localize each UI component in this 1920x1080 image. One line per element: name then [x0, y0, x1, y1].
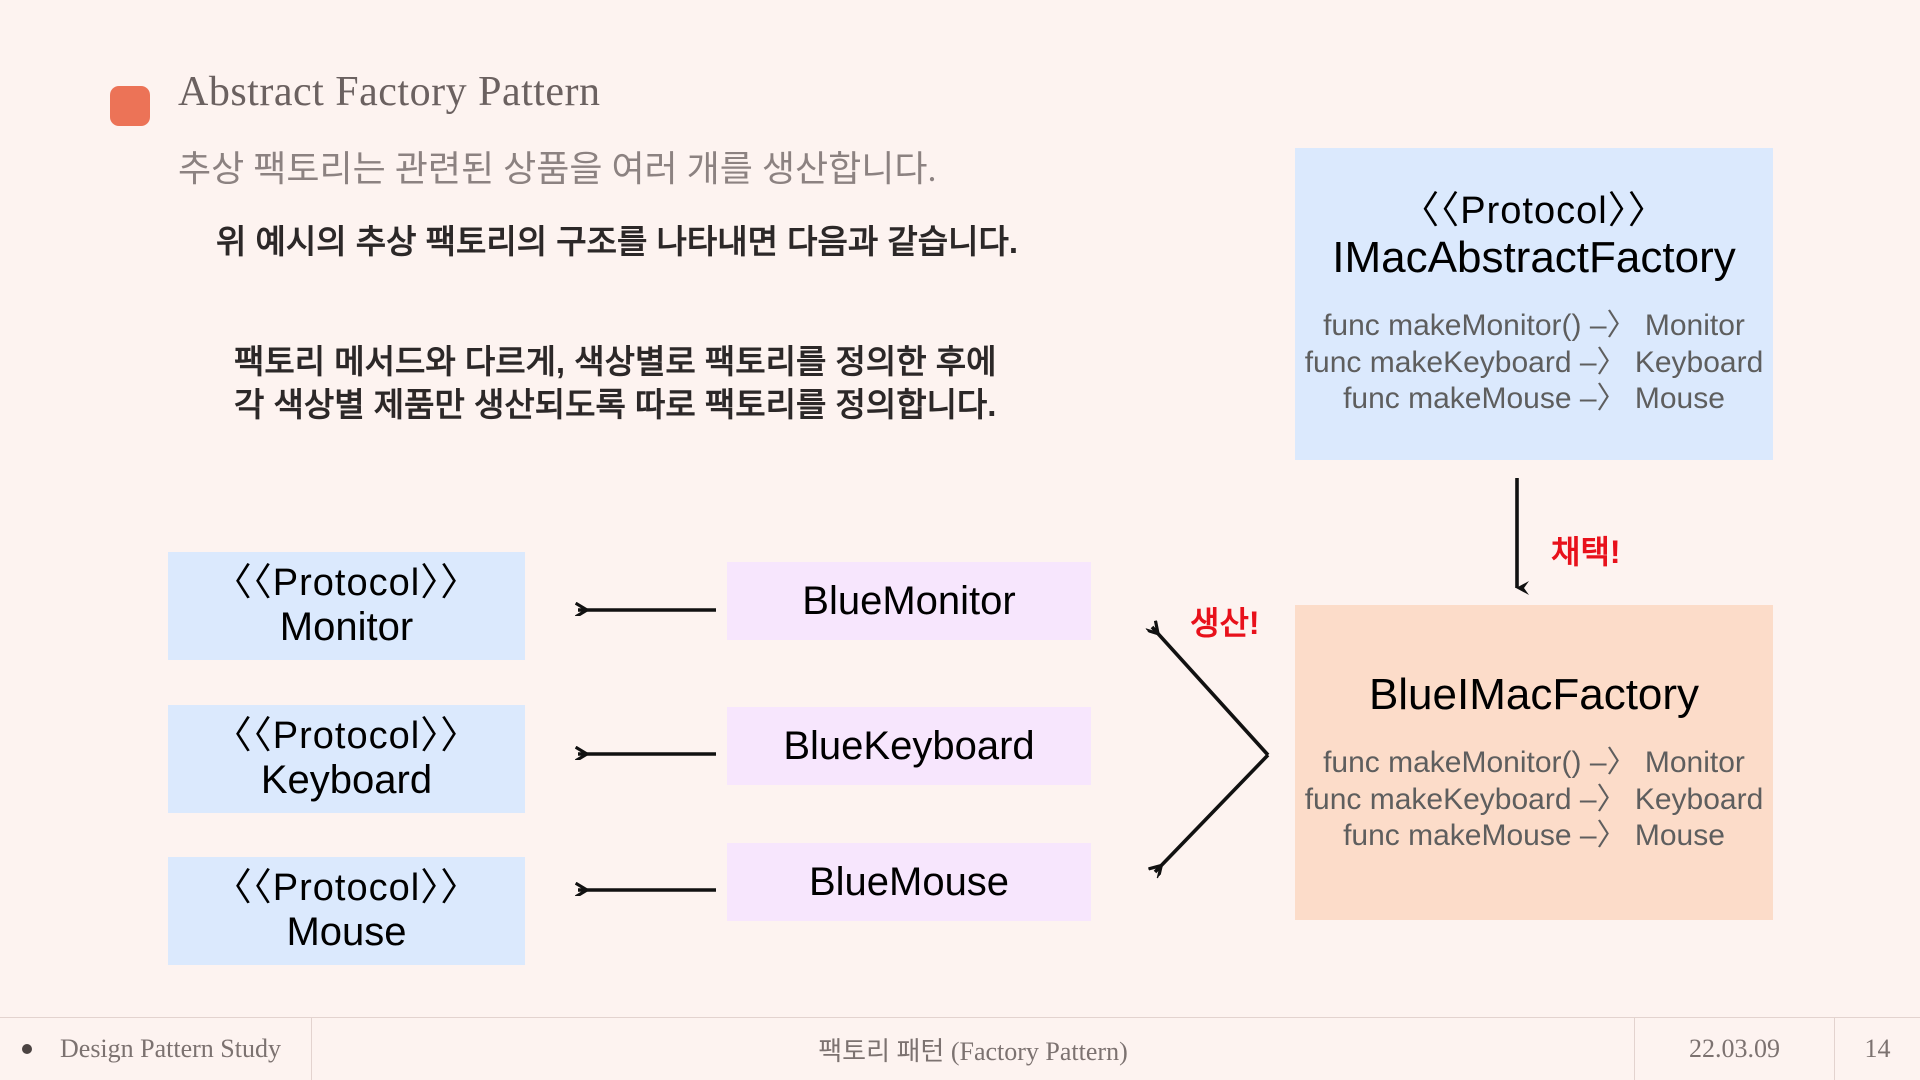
abstract-factory-name: IMacAbstractFactory: [1332, 233, 1735, 282]
abstract-factory-methods: func makeMonitor() –〉 Monitor func makeK…: [1305, 308, 1764, 418]
protocol-box-mouse[interactable]: 〈〈Protocol〉〉 Mouse: [168, 857, 525, 965]
footer-bullet-icon: [22, 1044, 32, 1054]
arrow-produce-upper: [1152, 627, 1268, 755]
product-name: BlueMonitor: [802, 579, 1015, 624]
concrete-factory-methods: func makeMonitor() –〉 Monitor func makeK…: [1305, 745, 1764, 855]
product-name: BlueMouse: [809, 860, 1009, 905]
footer-section-label: 팩토리 패턴 (Factory Pattern): [312, 1018, 1634, 1080]
protocol-name: Mouse: [286, 910, 406, 955]
abstract-factory-method: func makeKeyboard –〉 Keyboard: [1305, 345, 1764, 382]
product-box-blue-keyboard[interactable]: BlueKeyboard: [727, 707, 1091, 785]
annotation-produce: 생산!: [1190, 598, 1260, 644]
concrete-factory-method: func makeMouse –〉 Mouse: [1305, 818, 1764, 855]
protocol-name: Keyboard: [261, 758, 432, 803]
concrete-factory-box[interactable]: BlueIMacFactory func makeMonitor() –〉 Mo…: [1295, 605, 1773, 920]
body-line-2: 팩토리 메서드와 다르게, 색상별로 팩토리를 정의한 후에: [234, 335, 996, 383]
arrow-produce-lower: [1155, 755, 1268, 872]
protocol-stereotype: 〈〈Protocol〉〉: [214, 867, 479, 910]
product-box-blue-monitor[interactable]: BlueMonitor: [727, 562, 1091, 640]
protocol-box-monitor[interactable]: 〈〈Protocol〉〉 Monitor: [168, 552, 525, 660]
product-box-blue-mouse[interactable]: BlueMouse: [727, 843, 1091, 921]
abstract-factory-stereotype: 〈〈Protocol〉〉: [1401, 190, 1666, 233]
footer: Design Pattern Study 팩토리 패턴 (Factory Pat…: [0, 1017, 1920, 1080]
concrete-factory-method: func makeMonitor() –〉 Monitor: [1305, 745, 1764, 782]
protocol-stereotype: 〈〈Protocol〉〉: [214, 715, 479, 758]
page-subtitle: 추상 팩토리는 관련된 상품을 여러 개를 생산합니다.: [178, 140, 937, 192]
title-bullet-icon: [110, 86, 150, 126]
page-title: Abstract Factory Pattern: [178, 68, 601, 116]
abstract-factory-method: func makeMonitor() –〉 Monitor: [1305, 308, 1764, 345]
concrete-factory-method: func makeKeyboard –〉 Keyboard: [1305, 782, 1764, 819]
body-line-3: 각 색상별 제품만 생산되도록 따로 팩토리를 정의합니다.: [234, 378, 996, 426]
product-name: BlueKeyboard: [783, 724, 1034, 769]
protocol-box-keyboard[interactable]: 〈〈Protocol〉〉 Keyboard: [168, 705, 525, 813]
abstract-factory-box[interactable]: 〈〈Protocol〉〉 IMacAbstractFactory func ma…: [1295, 148, 1773, 460]
body-line-1: 위 예시의 추상 팩토리의 구조를 나타내면 다음과 같습니다.: [216, 215, 1018, 263]
concrete-factory-name: BlueIMacFactory: [1369, 670, 1699, 719]
abstract-factory-method: func makeMouse –〉 Mouse: [1305, 381, 1764, 418]
footer-date: 22.03.09: [1634, 1018, 1834, 1080]
footer-page-number: 14: [1834, 1018, 1920, 1080]
annotation-adopt: 채택!: [1551, 527, 1621, 573]
footer-study-label: Design Pattern Study: [32, 1018, 312, 1080]
protocol-name: Monitor: [280, 605, 413, 650]
protocol-stereotype: 〈〈Protocol〉〉: [214, 562, 479, 605]
slide-canvas: Abstract Factory Pattern 추상 팩토리는 관련된 상품을…: [0, 0, 1920, 1080]
